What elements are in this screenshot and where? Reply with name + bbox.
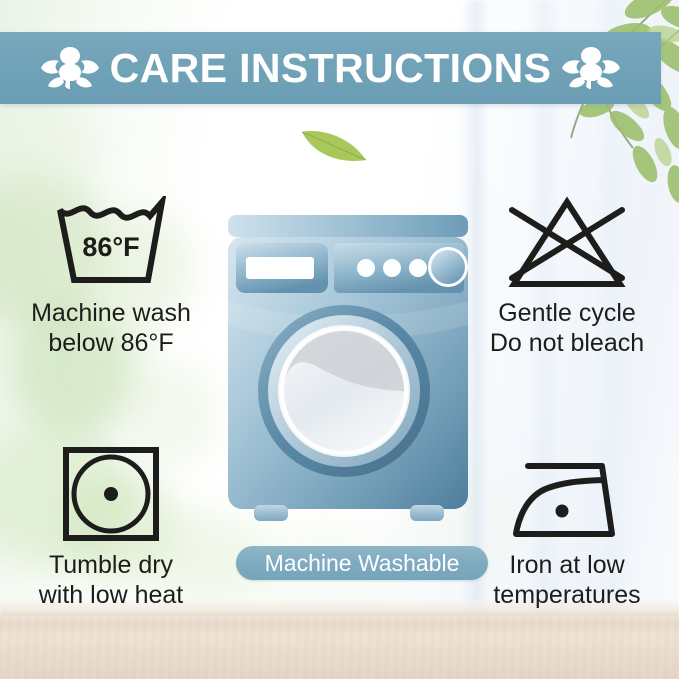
care-item-iron-low: Iron at low temperatures: [462, 440, 672, 610]
caption-line-2: Do not bleach: [462, 328, 672, 358]
caption-line-1: Gentle cycle: [462, 298, 672, 328]
wash-temperature-label: 86°F: [82, 232, 139, 262]
fleur-de-lis-icon: [40, 41, 100, 95]
header-banner: CARE INSTRUCTIONS: [0, 32, 661, 104]
care-item-caption: Machine wash below 86°F: [6, 298, 216, 358]
care-item-caption: Tumble dry with low heat: [6, 550, 216, 610]
floating-leaf-icon: [298, 122, 370, 166]
caption-line-2: below 86°F: [6, 328, 216, 358]
front-load-washing-machine: [222, 205, 474, 535]
wash-tub-icon: 86°F: [6, 188, 216, 292]
tumble-dry-low-icon: [6, 440, 216, 544]
caption-line-2: with low heat: [6, 580, 216, 610]
do-not-bleach-triangle-icon: [462, 188, 672, 292]
care-instructions-graphic: CARE INSTRUCTIONS 86°F Machine wash belo…: [0, 0, 679, 679]
page-title: CARE INSTRUCTIONS: [110, 45, 552, 92]
caption-line-1: Tumble dry: [6, 550, 216, 580]
care-item-machine-wash: 86°F Machine wash below 86°F: [6, 188, 216, 358]
caption-line-1: Iron at low: [462, 550, 672, 580]
caption-line-2: temperatures: [462, 580, 672, 610]
machine-washable-badge: Machine Washable: [236, 546, 488, 580]
care-item-caption: Gentle cycle Do not bleach: [462, 298, 672, 358]
care-item-do-not-bleach: Gentle cycle Do not bleach: [462, 188, 672, 358]
care-item-tumble-dry: Tumble dry with low heat: [6, 440, 216, 610]
care-item-caption: Iron at low temperatures: [462, 550, 672, 610]
caption-line-1: Machine wash: [6, 298, 216, 328]
iron-low-heat-icon: [462, 440, 672, 544]
table-wood-grain: [0, 617, 679, 679]
fleur-de-lis-icon: [561, 41, 621, 95]
badge-label: Machine Washable: [265, 550, 460, 577]
